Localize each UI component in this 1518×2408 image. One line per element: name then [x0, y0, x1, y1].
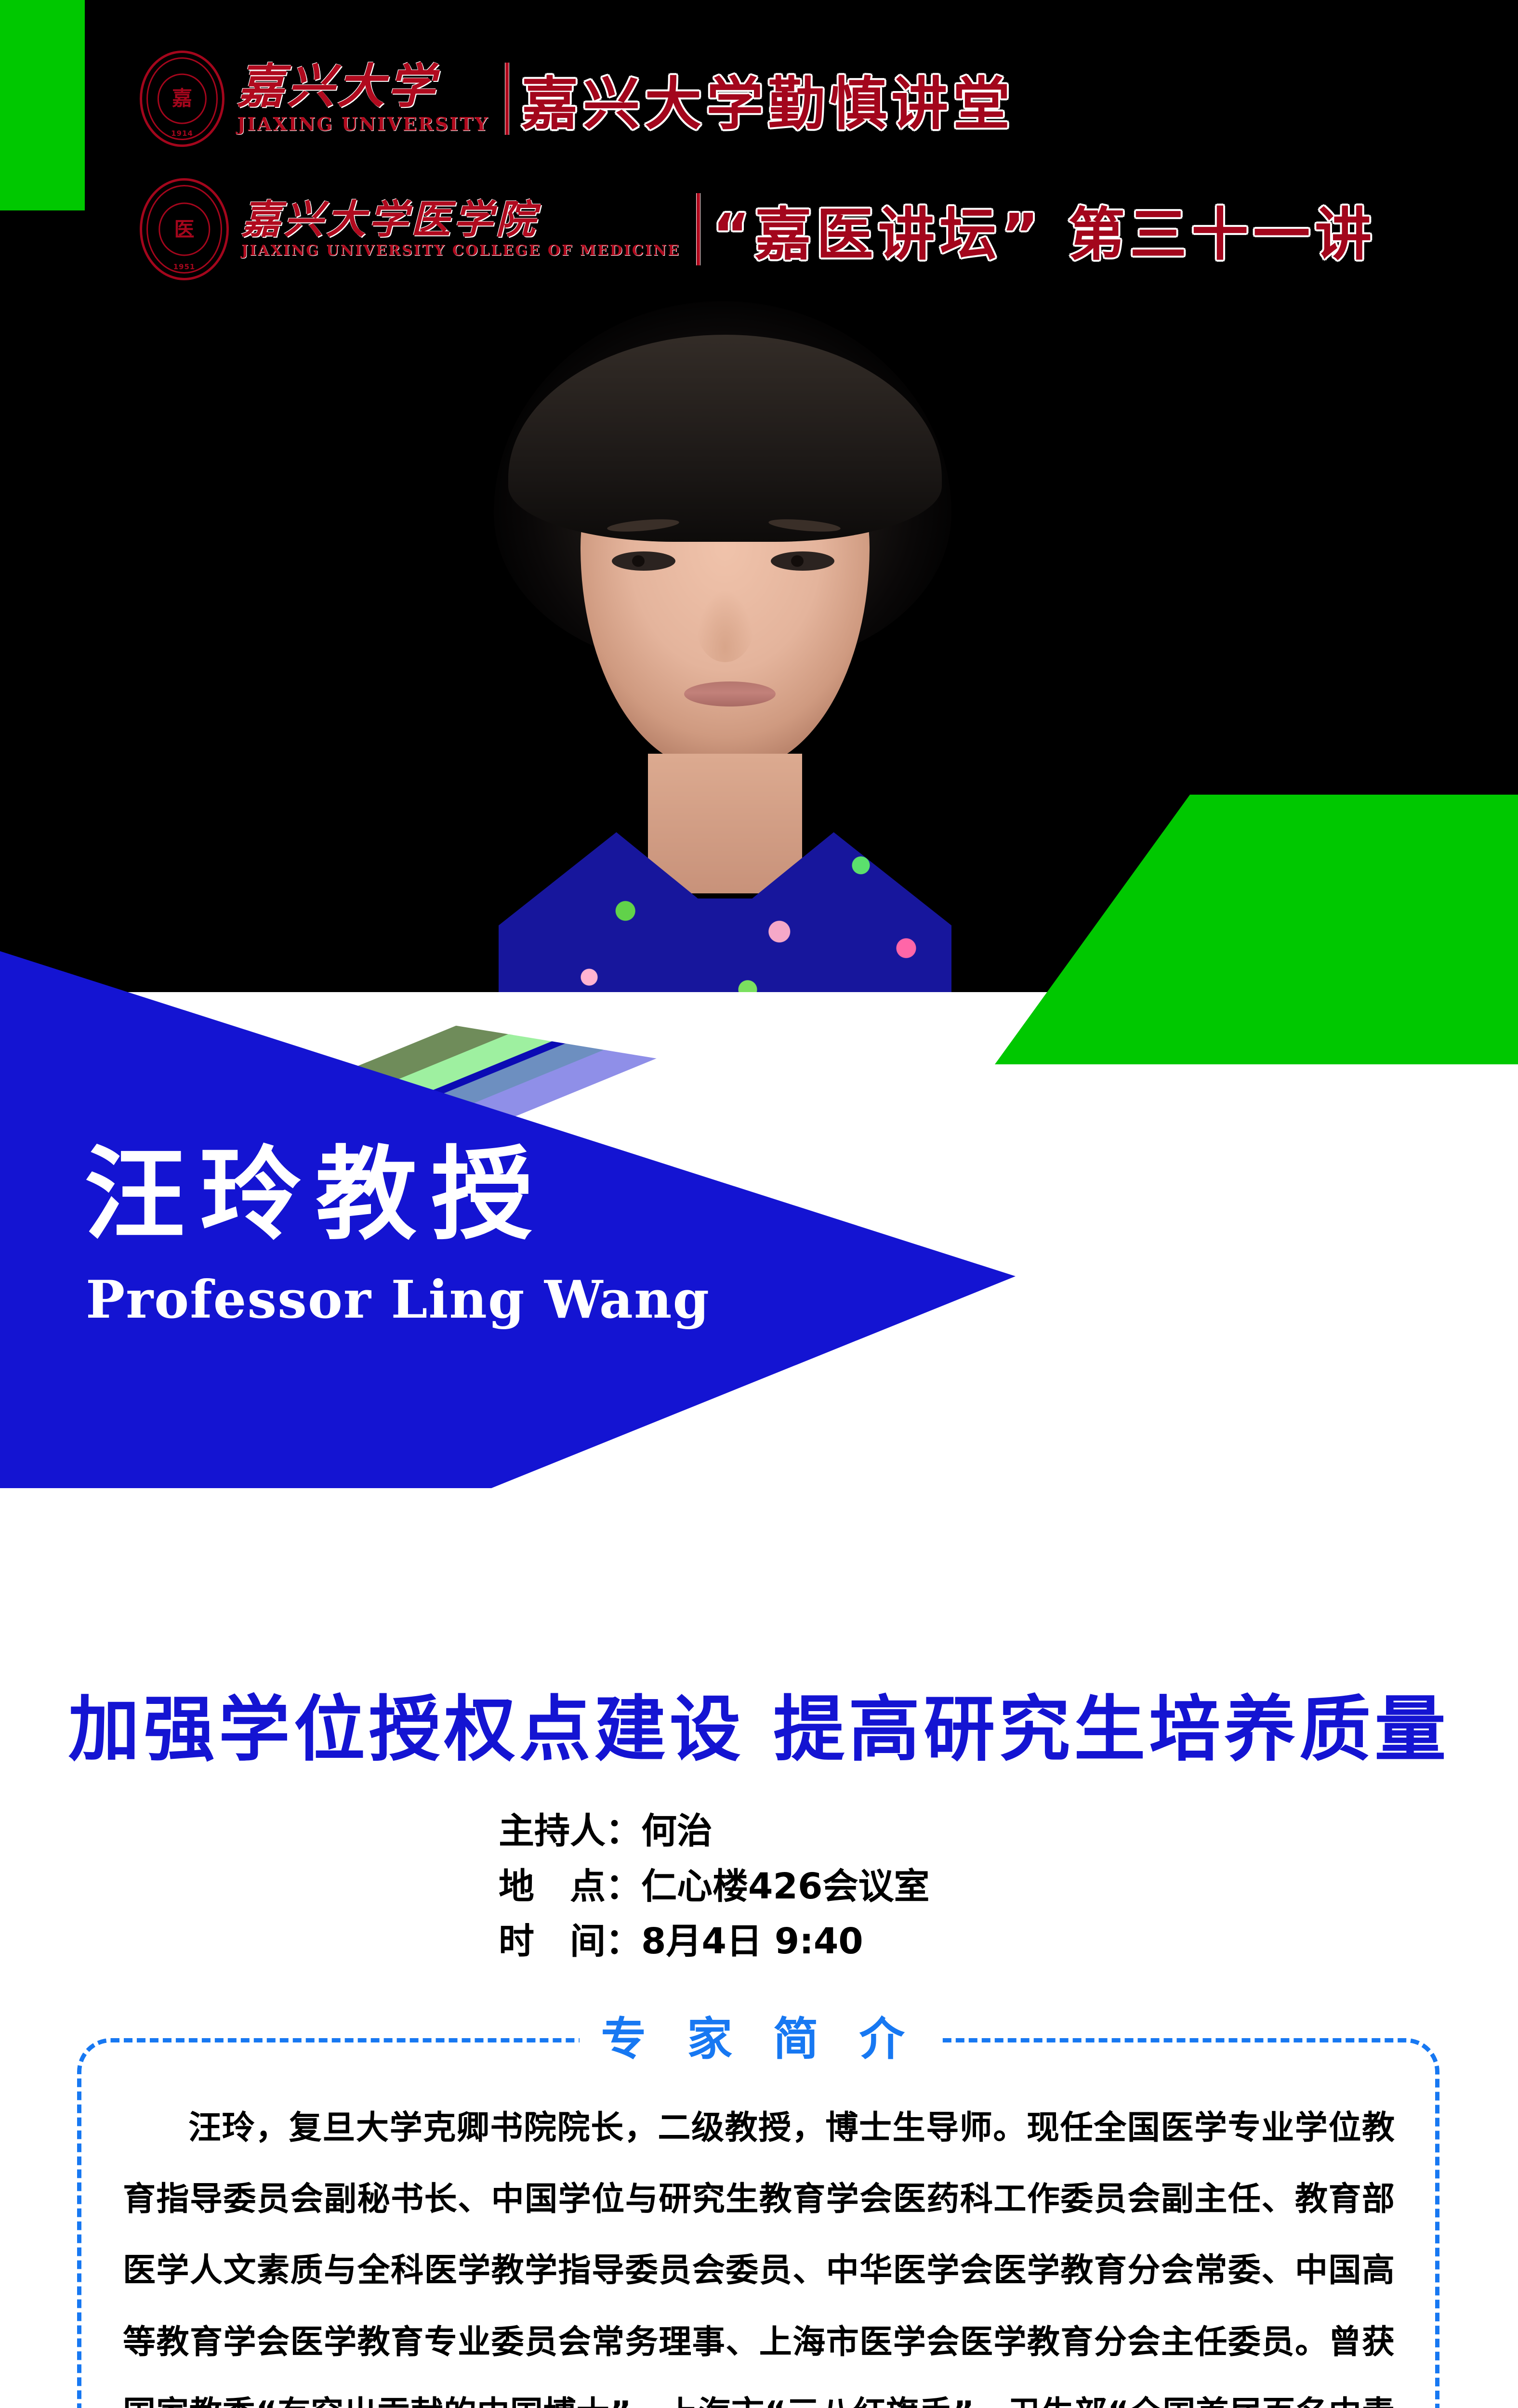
detail-host-row: 主持人：何治 — [499, 1804, 929, 1859]
header-row-university: 嘉 1914 嘉兴大学 JIAXING UNIVERSITY 嘉兴大学勤慎讲堂 — [140, 51, 1015, 147]
detail-place-row: 地 点：仁心楼426会议室 — [499, 1859, 929, 1914]
divider-bar — [697, 193, 700, 265]
portrait-eye-right — [771, 551, 834, 571]
green-accent-bar — [0, 0, 85, 210]
place-value: 仁心楼426会议室 — [641, 1866, 929, 1907]
university-name-en: JIAXING UNIVERSITY — [237, 113, 489, 135]
college-logo-text: 嘉兴大学医学院 JIAXING UNIVERSITY COLLEGE OF ME… — [241, 200, 680, 259]
host-label: 主持人： — [499, 1804, 641, 1859]
time-value: 8月4日 9:40 — [641, 1921, 863, 1962]
portrait-mouth — [684, 681, 776, 707]
college-name-cn: 嘉兴大学医学院 — [241, 200, 680, 239]
university-seal-glyph: 嘉 — [158, 74, 207, 124]
university-name-cn: 嘉兴大学 — [237, 63, 489, 110]
bio-paragraph-1: 汪玲，复旦大学克卿书院院长，二级教授，博士生导师。现任全国医学专业学位教育指导委… — [123, 2093, 1395, 2408]
lecture-title: 加强学位授权点建设 提高研究生培养质量 — [0, 1671, 1518, 1775]
lecture-details: 主持人：何治 地 点：仁心楼426会议室 时 间：8月4日 9:40 — [499, 1804, 929, 1969]
speaker-name-cn: 汪玲教授 — [84, 1144, 547, 1245]
university-seal-icon: 嘉 1914 — [140, 51, 224, 147]
host-value: 何治 — [641, 1810, 713, 1852]
college-seal-year: 1951 — [173, 262, 196, 271]
place-label: 地 点： — [499, 1859, 641, 1914]
portrait-eye-left — [612, 551, 675, 571]
university-seal-year: 1914 — [171, 129, 193, 138]
time-label: 时 间： — [499, 1914, 641, 1969]
lecture-poster: 嘉 1914 嘉兴大学 JIAXING UNIVERSITY 嘉兴大学勤慎讲堂 … — [0, 0, 1518, 2408]
header-row-college: 医 1951 嘉兴大学医学院 JIAXING UNIVERSITY COLLEG… — [140, 178, 1376, 280]
speaker-portrait-photo — [412, 301, 1033, 992]
portrait-neck — [648, 754, 802, 893]
university-logo-text: 嘉兴大学 JIAXING UNIVERSITY — [237, 63, 489, 135]
college-seal-icon: 医 1951 — [140, 178, 229, 280]
expert-bio-text: 汪玲，复旦大学克卿书院院长，二级教授，博士生导师。现任全国医学专业学位教育指导委… — [123, 2093, 1395, 2408]
detail-time-row: 时 间：8月4日 9:40 — [499, 1914, 929, 1969]
speaker-name-en: Professor Ling Wang — [86, 1274, 710, 1326]
divider-bar — [505, 63, 509, 135]
lecture-episode-title: “嘉医讲坛” 第三十一讲 — [713, 188, 1376, 271]
lecture-series-title: 嘉兴大学勤慎讲堂 — [521, 58, 1015, 140]
college-seal-glyph: 医 — [158, 202, 211, 256]
college-name-en: JIAXING UNIVERSITY COLLEGE OF MEDICINE — [241, 242, 680, 259]
portrait-nose — [696, 590, 754, 662]
